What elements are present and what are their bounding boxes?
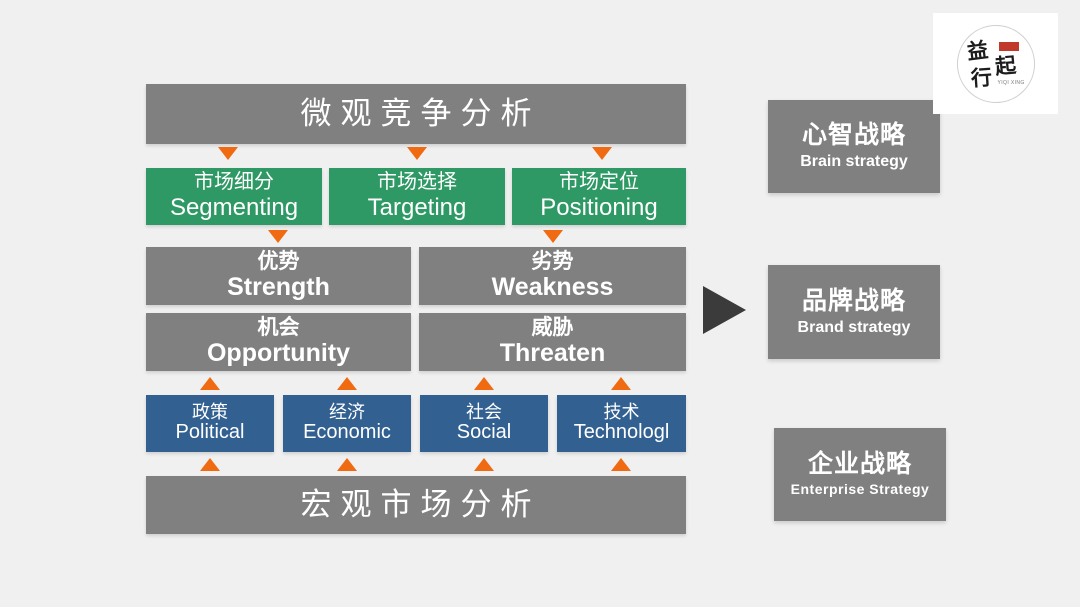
swot-card-strength-cn: 优势 <box>258 251 300 274</box>
strategy-card-enterprise[interactable]: 企业战略 Enterprise Strategy <box>774 428 946 521</box>
arrow-down-to-targeting <box>407 147 427 160</box>
stp-card-segmenting-cn: 市场细分 <box>194 172 274 194</box>
swot-card-weakness[interactable]: 劣势 Weakness <box>419 247 686 305</box>
pest-card-social-en: Social <box>457 422 511 444</box>
swot-card-strength[interactable]: 优势 Strength <box>146 247 411 305</box>
seal-char-xing: 行 <box>970 66 992 88</box>
arrow-up-macro-to-technology <box>611 458 631 471</box>
brand-seal-icon: 益 起 行 YIQI XING <box>957 25 1035 103</box>
swot-card-threaten[interactable]: 威胁 Threaten <box>419 313 686 371</box>
pest-card-technology-cn: 技术 <box>604 403 640 422</box>
macro-analysis-banner: 宏观市场分析 <box>146 476 686 534</box>
arrow-down-to-positioning <box>592 147 612 160</box>
brand-logo-card: 益 起 行 YIQI XING <box>933 13 1058 114</box>
pest-card-economic-en: Economic <box>303 422 391 444</box>
pest-card-political-en: Political <box>176 422 245 444</box>
strategy-card-brain-en: Brain strategy <box>800 153 908 170</box>
micro-analysis-banner: 微观竞争分析 <box>146 84 686 144</box>
pest-card-social-cn: 社会 <box>466 403 502 422</box>
right-arrow-icon <box>703 286 746 334</box>
micro-analysis-banner-label: 微观竞争分析 <box>292 97 541 130</box>
pest-card-technology[interactable]: 技术 Technologl <box>557 395 686 452</box>
pest-card-social[interactable]: 社会 Social <box>420 395 548 452</box>
swot-card-threaten-cn: 威胁 <box>532 317 574 340</box>
stp-card-positioning-cn: 市场定位 <box>559 172 639 194</box>
macro-analysis-banner-label: 宏观市场分析 <box>292 488 541 521</box>
stp-card-positioning-en: Positioning <box>540 195 657 221</box>
strategy-card-brand-en: Brand strategy <box>798 319 911 336</box>
arrow-down-to-strength <box>268 230 288 243</box>
stp-card-segmenting[interactable]: 市场细分 Segmenting <box>146 168 322 225</box>
swot-card-opportunity-en: Opportunity <box>207 340 350 367</box>
swot-card-opportunity[interactable]: 机会 Opportunity <box>146 313 411 371</box>
pest-card-political[interactable]: 政策 Political <box>146 395 274 452</box>
arrow-up-macro-to-economic <box>337 458 357 471</box>
swot-card-opportunity-cn: 机会 <box>258 317 300 340</box>
arrow-up-political-to-swot <box>200 377 220 390</box>
strategy-card-brain-cn: 心智战略 <box>802 122 906 149</box>
slide-canvas: 微观竞争分析 市场细分 Segmenting 市场选择 Targeting 市场… <box>0 0 1080 607</box>
arrow-down-to-segmenting <box>218 147 238 160</box>
stp-card-targeting-cn: 市场选择 <box>377 172 457 194</box>
pest-card-economic-cn: 经济 <box>329 403 365 422</box>
arrow-down-to-weakness <box>543 230 563 243</box>
arrow-up-macro-to-political <box>200 458 220 471</box>
stp-card-positioning[interactable]: 市场定位 Positioning <box>512 168 686 225</box>
strategy-card-brain[interactable]: 心智战略 Brain strategy <box>768 100 940 193</box>
swot-card-weakness-en: Weakness <box>492 274 614 301</box>
swot-card-strength-en: Strength <box>227 274 330 301</box>
pest-card-technology-en: Technologl <box>574 422 670 444</box>
seal-characters: 益 起 行 <box>957 25 1035 103</box>
pest-card-political-cn: 政策 <box>192 403 228 422</box>
seal-char-yi: 益 <box>965 38 988 61</box>
strategy-card-brand[interactable]: 品牌战略 Brand strategy <box>768 265 940 359</box>
swot-card-threaten-en: Threaten <box>500 340 606 367</box>
seal-pinyin-label: YIQI XING <box>998 80 1025 86</box>
arrow-up-economic-to-swot <box>337 377 357 390</box>
arrow-up-social-to-swot <box>474 377 494 390</box>
arrow-up-macro-to-social <box>474 458 494 471</box>
strategy-card-enterprise-cn: 企业战略 <box>808 451 912 478</box>
swot-card-weakness-cn: 劣势 <box>532 251 574 274</box>
strategy-card-brand-cn: 品牌战略 <box>802 288 906 315</box>
stp-card-targeting[interactable]: 市场选择 Targeting <box>329 168 505 225</box>
arrow-up-technology-to-swot <box>611 377 631 390</box>
stp-card-segmenting-en: Segmenting <box>170 195 298 221</box>
strategy-card-enterprise-en: Enterprise Strategy <box>791 482 930 497</box>
stp-card-targeting-en: Targeting <box>368 195 467 221</box>
pest-card-economic[interactable]: 经济 Economic <box>283 395 411 452</box>
seal-red-stamp-icon <box>999 42 1019 51</box>
seal-char-qi: 起 <box>994 54 1017 77</box>
